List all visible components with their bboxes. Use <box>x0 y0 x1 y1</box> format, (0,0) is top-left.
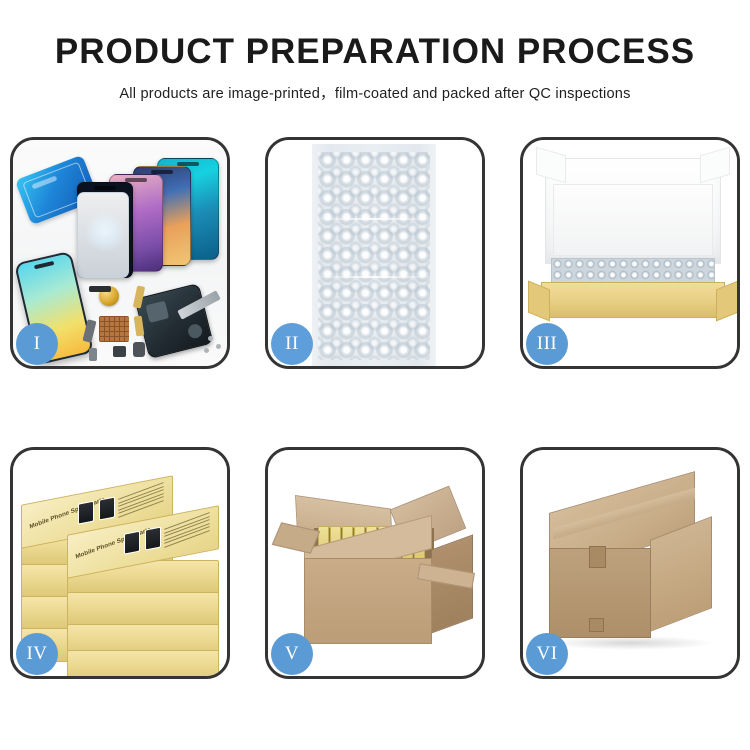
step-badge-5: V <box>271 633 313 675</box>
sim-tray-icon <box>89 348 97 361</box>
phone-display-fan-icon <box>73 158 227 270</box>
tempered-glass-icon <box>77 192 129 278</box>
wrap-seam-2 <box>318 276 430 278</box>
box-lid-screen-img-3 <box>124 531 140 555</box>
box-lid-spec-lines-1 <box>118 486 164 517</box>
carton-shadow <box>547 636 715 650</box>
process-step-panel-1[interactable]: I <box>10 137 230 369</box>
bubble-texture-back <box>318 152 430 360</box>
carton-tab-upper <box>589 546 606 568</box>
wrap-seam-1 <box>318 218 430 220</box>
box-lid-spec-lines-2 <box>164 516 210 547</box>
step-badge-6: VI <box>526 633 568 675</box>
process-steps-grid: I II III <box>10 137 740 689</box>
screw-icon <box>208 336 213 341</box>
kraft-box-base <box>541 282 725 318</box>
copper-grid-part-icon <box>99 316 129 342</box>
box-lid-screen-img-1 <box>78 501 94 525</box>
carton-front-panel <box>304 558 432 644</box>
foam-insert <box>553 184 713 256</box>
step-badge-4: IV <box>16 633 58 675</box>
process-step-panel-5[interactable]: V <box>265 447 485 679</box>
stacked-box-r2 <box>67 592 219 626</box>
process-step-panel-2[interactable]: II <box>265 137 485 369</box>
step-badge-3: III <box>526 323 568 365</box>
battery-part-icon <box>133 342 145 357</box>
screw-3-icon <box>204 348 209 353</box>
phone-backplate-icon <box>134 283 213 359</box>
header: PRODUCT PREPARATION PROCESS All products… <box>0 34 750 103</box>
stacked-box-r4 <box>67 650 219 676</box>
box-lid-screen-img-4 <box>145 527 161 551</box>
carton-tab-lower <box>589 618 604 632</box>
speaker-part-icon <box>89 286 111 292</box>
box-lid-screen-img-2 <box>99 497 115 521</box>
step-badge-2: II <box>271 323 313 365</box>
product-preparation-infographic: PRODUCT PREPARATION PROCESS All products… <box>0 0 750 750</box>
page-title: PRODUCT PREPARATION PROCESS <box>0 34 750 71</box>
screw-2-icon <box>216 344 221 349</box>
step-badge-1: I <box>16 323 58 365</box>
camera-module-icon <box>113 346 126 357</box>
process-step-panel-4[interactable]: Mobile Phone Spare Parts Mobile Phone Sp… <box>10 447 230 679</box>
process-step-panel-6[interactable]: VI <box>520 447 740 679</box>
process-step-panel-3[interactable]: III <box>520 137 740 369</box>
page-subtitle: All products are image-printed，film-coat… <box>0 82 750 103</box>
